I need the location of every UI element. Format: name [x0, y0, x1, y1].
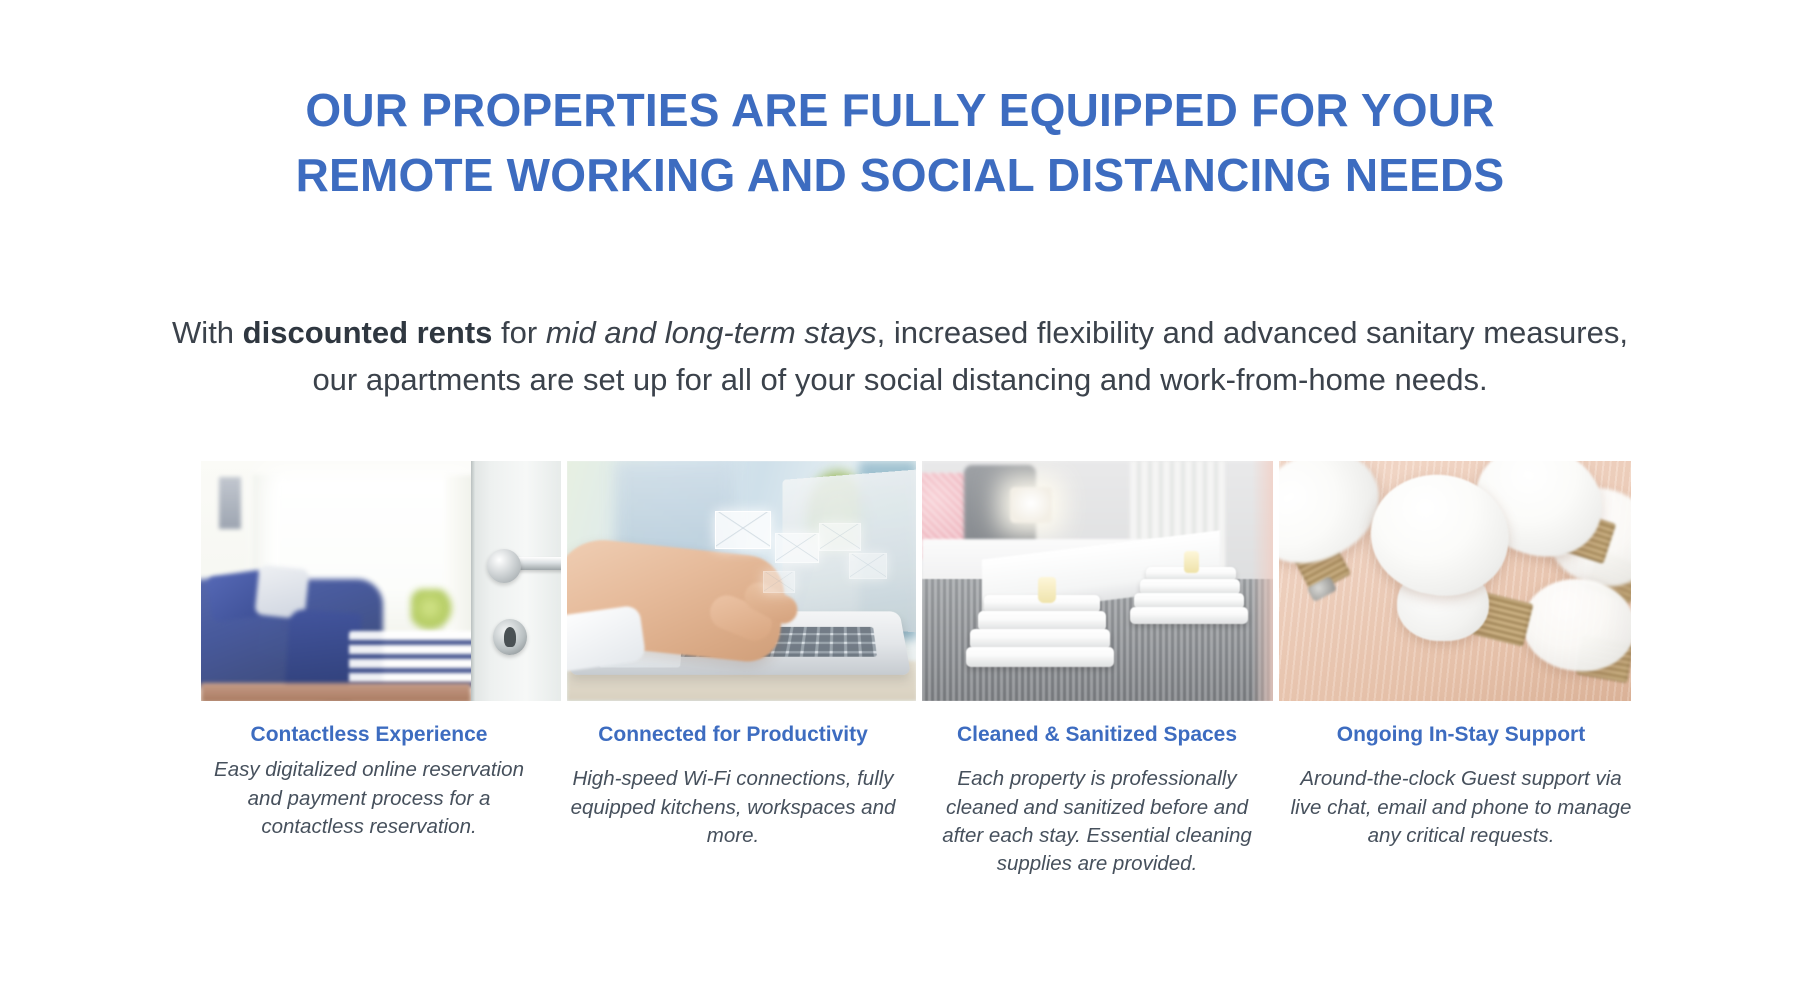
feature-column-ongoing-in-stay-support: Ongoing In-Stay Support Around-the-clock…: [1282, 722, 1640, 878]
intro-part-2: for: [492, 315, 545, 350]
intro-italic-stays: mid and long-term stays: [546, 315, 877, 350]
feature-image-ongoing-in-stay-support: [1279, 461, 1632, 701]
feature-heading: Ongoing In-Stay Support: [1288, 722, 1634, 748]
feature-heading: Contactless Experience: [196, 722, 542, 748]
intro-paragraph: With discounted rents for mid and long-t…: [150, 309, 1650, 403]
slide-root: OUR PROPERTIES ARE FULLY EQUIPPED FOR YO…: [0, 0, 1800, 1000]
envelope-icon: [819, 523, 861, 551]
feature-image-cleaned-sanitized-spaces: [922, 461, 1273, 701]
feature-body: Each property is professionally cleaned …: [924, 765, 1270, 878]
feature-column-contactless-experience: Contactless Experience Easy digitalized …: [190, 722, 548, 878]
lamp-icon: [1010, 487, 1052, 523]
page-title: OUR PROPERTIES ARE FULLY EQUIPPED FOR YO…: [190, 78, 1610, 209]
intro-bold-discounted-rents: discounted rents: [243, 315, 493, 350]
feature-column-cleaned-sanitized-spaces: Cleaned & Sanitized Spaces Each property…: [918, 722, 1276, 878]
feature-image-contactless-experience: [201, 461, 561, 701]
title-line-1: OUR PROPERTIES ARE FULLY EQUIPPED FOR YO…: [190, 78, 1610, 143]
feature-body: Around-the-clock Guest support via live …: [1288, 765, 1634, 850]
envelope-icon: [849, 553, 887, 579]
envelope-icon: [775, 533, 819, 563]
feature-image-connected-for-productivity: [567, 461, 916, 701]
intro-part-1: With: [172, 315, 243, 350]
feature-image-strip: [201, 461, 1631, 701]
feature-heading: Cleaned & Sanitized Spaces: [924, 722, 1270, 748]
feature-body: High-speed Wi-Fi connections, fully equi…: [560, 765, 906, 850]
feature-caption-row: Contactless Experience Easy digitalized …: [190, 722, 1640, 878]
title-line-2: REMOTE WORKING AND SOCIAL DISTANCING NEE…: [190, 143, 1610, 208]
feature-body: Easy digitalized online reservation and …: [196, 756, 542, 841]
feature-column-connected-for-productivity: Connected for Productivity High-speed Wi…: [554, 722, 912, 878]
envelope-icon: [763, 571, 795, 593]
envelope-icon: [715, 511, 771, 549]
feature-heading: Connected for Productivity: [560, 722, 906, 748]
